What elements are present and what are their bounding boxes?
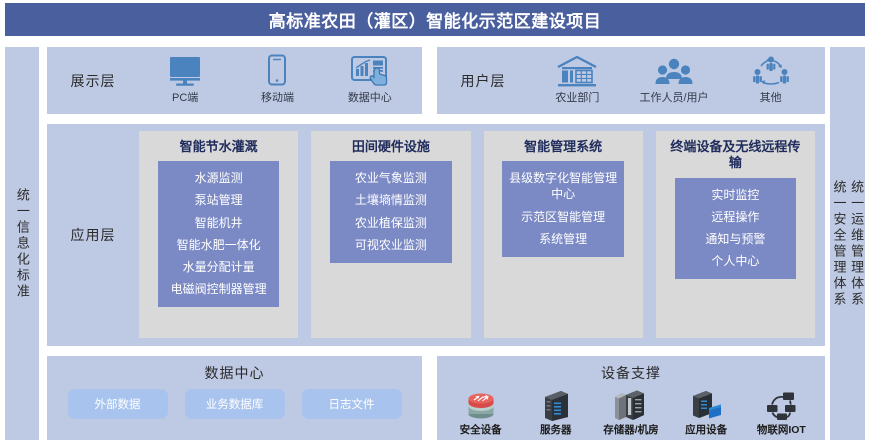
app-card-title: 终端设备及无线远程传输 <box>665 139 806 172</box>
app-card-title: 田间硬件设施 <box>352 139 430 155</box>
presentation-item-datacenter[interactable]: 数据中心 <box>327 53 413 105</box>
dashboard-touch-icon <box>350 53 390 87</box>
device-support-title: 设备支撑 <box>437 356 825 383</box>
user-layer-panel: 用户层 <box>437 47 825 114</box>
user-item-staff[interactable]: 工作人员/用户 <box>631 53 717 105</box>
app-entry[interactable]: 水源监测 <box>195 168 243 188</box>
presentation-item-mobile-label: 移动端 <box>261 89 294 105</box>
building-icon <box>555 53 599 87</box>
app-card-title: 智能节水灌溉 <box>180 139 258 155</box>
people-cycle-icon <box>751 53 791 87</box>
device-item-application-label: 应用设备 <box>685 422 727 437</box>
app-card-field-hardware[interactable]: 田间硬件设施 农业气象监测 土壤墒情监测 农业植保监测 可视农业监测 <box>311 131 470 338</box>
user-item-other[interactable]: 其他 <box>728 53 814 105</box>
title-bar: 高标准农田（灌区）智能化示范区建设项目 <box>5 3 865 36</box>
user-item-other-label: 其他 <box>760 89 782 105</box>
mobile-icon <box>265 53 289 87</box>
presentation-item-pc-label: PC端 <box>172 89 198 105</box>
device-item-iot-label: 物联网IOT <box>757 422 806 437</box>
user-item-staff-label: 工作人员/用户 <box>639 89 708 105</box>
router-security-icon <box>463 387 499 421</box>
app-entry[interactable]: 远程操作 <box>711 207 759 227</box>
device-item-application[interactable]: 应用设备 <box>670 387 742 437</box>
app-entry[interactable]: 农业植保监测 <box>355 213 427 233</box>
left-rail-standards: 统一信息化标准 <box>5 47 39 440</box>
monitor-icon <box>166 53 204 87</box>
data-center-panel: 数据中心 外部数据 业务数据库 日志文件 <box>47 356 422 440</box>
right-rail-ops-label: 统一运维管理体系 <box>850 180 864 308</box>
app-card-entry-box: 实时监控 远程操作 通知与预警 个人中心 <box>675 178 796 280</box>
left-rail-label: 统一信息化标准 <box>15 188 29 300</box>
app-entry[interactable]: 实时监控 <box>711 185 759 205</box>
app-entry[interactable]: 系统管理 <box>539 229 587 249</box>
app-entry[interactable]: 个人中心 <box>711 251 759 271</box>
app-entry[interactable]: 农业气象监测 <box>355 168 427 188</box>
iot-network-icon <box>764 387 798 421</box>
presentation-item-mobile[interactable]: 移动端 <box>234 53 320 105</box>
application-layer-label: 应用层 <box>71 225 116 245</box>
device-item-server[interactable]: 服务器 <box>520 387 592 437</box>
application-layer-panel: 应用层 智能节水灌溉 水源监测 泵站管理 智能机井 智能水肥一体化 水量分配计量… <box>47 124 825 346</box>
app-entry[interactable]: 土壤墒情监测 <box>355 190 427 210</box>
user-item-agriculture-dept[interactable]: 农业部门 <box>534 53 620 105</box>
app-card-title: 智能管理系统 <box>524 139 602 155</box>
device-item-security[interactable]: 安全设备 <box>445 387 517 437</box>
app-card-smart-irrigation[interactable]: 智能节水灌溉 水源监测 泵站管理 智能机井 智能水肥一体化 水量分配计量 电磁阀… <box>139 131 298 338</box>
device-item-storage-label: 存储器/机房 <box>603 422 658 437</box>
app-card-entry-box: 农业气象监测 土壤墒情监测 农业植保监测 可视农业监测 <box>330 161 451 263</box>
app-card-terminal-transmission[interactable]: 终端设备及无线远程传输 实时监控 远程操作 通知与预警 个人中心 <box>656 131 815 338</box>
app-entry[interactable]: 县级数字化智能管理中心 <box>506 168 619 204</box>
application-layer-label-col: 应用层 <box>47 124 139 346</box>
app-entry[interactable]: 可视农业监测 <box>355 235 427 255</box>
data-pill-log-files[interactable]: 日志文件 <box>302 389 402 419</box>
app-entry[interactable]: 水量分配计量 <box>183 257 255 277</box>
application-device-icon <box>689 387 723 421</box>
app-card-management-system[interactable]: 智能管理系统 县级数字化智能管理中心 示范区智能管理 系统管理 <box>484 131 643 338</box>
people-group-icon <box>654 53 694 87</box>
device-item-storage[interactable]: 存储器/机房 <box>595 387 667 437</box>
device-support-panel: 设备支撑 <box>437 356 825 440</box>
user-item-agriculture-dept-label: 农业部门 <box>555 89 599 105</box>
app-entry[interactable]: 泵站管理 <box>195 190 243 210</box>
presentation-item-pc[interactable]: PC端 <box>142 53 228 105</box>
device-item-iot[interactable]: 物联网IOT <box>745 387 817 437</box>
data-pill-business-db[interactable]: 业务数据库 <box>185 389 285 419</box>
user-layer-label: 用户层 <box>437 71 529 91</box>
right-rail-security-label: 统一安全管理体系 <box>832 180 846 308</box>
data-pill-external[interactable]: 外部数据 <box>68 389 168 419</box>
device-item-security-label: 安全设备 <box>460 422 502 437</box>
app-card-entry-box: 水源监测 泵站管理 智能机井 智能水肥一体化 水量分配计量 电磁阀控制器管理 <box>158 161 279 307</box>
app-entry[interactable]: 示范区智能管理 <box>521 207 605 227</box>
app-entry[interactable]: 电磁阀控制器管理 <box>171 279 267 299</box>
page-title: 高标准农田（灌区）智能化示范区建设项目 <box>269 7 602 32</box>
app-entry[interactable]: 智能水肥一体化 <box>177 235 261 255</box>
presentation-item-datacenter-label: 数据中心 <box>348 89 392 105</box>
app-card-entry-box: 县级数字化智能管理中心 示范区智能管理 系统管理 <box>502 161 623 257</box>
right-rail-governance: 统一安全管理体系 统一运维管理体系 <box>830 47 865 440</box>
diagram-root: 高标准农田（灌区）智能化示范区建设项目 统一信息化标准 统一安全管理体系 统一运… <box>0 0 870 445</box>
presentation-layer-panel: 展示层 PC端 <box>47 47 422 114</box>
app-entry[interactable]: 通知与预警 <box>705 229 765 249</box>
storage-rack-icon <box>613 387 649 421</box>
app-entry[interactable]: 智能机井 <box>195 213 243 233</box>
device-item-server-label: 服务器 <box>540 422 572 437</box>
presentation-layer-label: 展示层 <box>47 71 139 91</box>
data-center-title: 数据中心 <box>47 356 422 383</box>
server-icon <box>541 387 571 421</box>
